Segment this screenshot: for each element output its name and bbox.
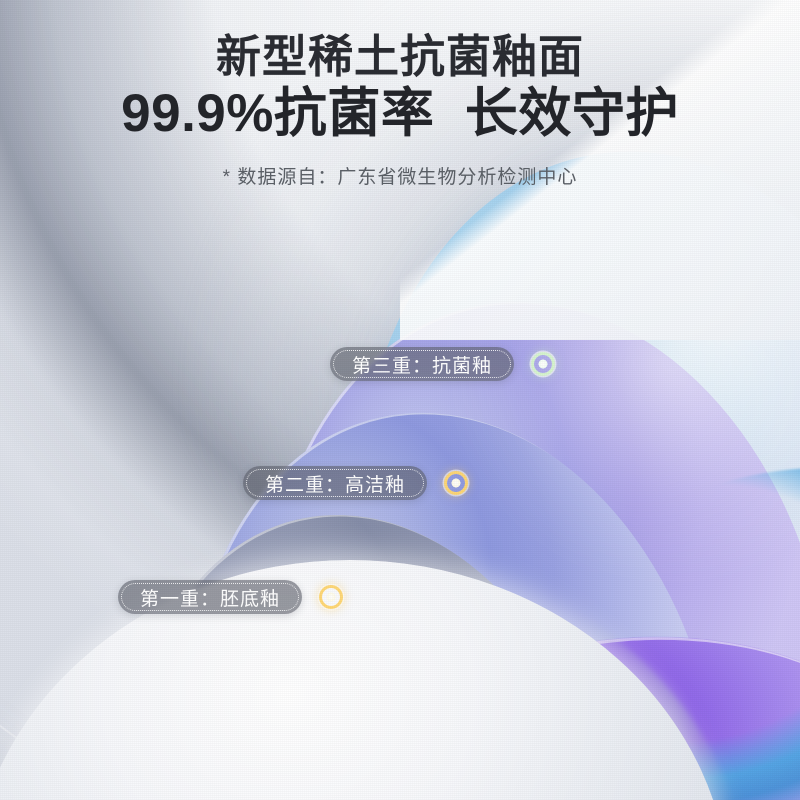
glow-dot-icon: [447, 474, 465, 492]
headline-secondary: 99.9%抗菌率 长效守护: [0, 83, 800, 146]
callout-label-layer-1: 第一重：胚底釉: [118, 580, 302, 614]
callout-layer-1: 第一重：胚底釉: [118, 580, 340, 614]
data-source-note: * 数据源自：广东省微生物分析检测中心: [0, 146, 800, 189]
glow-dot-icon: [322, 588, 340, 606]
headline-block: 新型稀土抗菌釉面 99.9%抗菌率 长效守护 * 数据源自：广东省微生物分析检测…: [0, 0, 800, 189]
glow-dot-icon: [534, 355, 552, 373]
callout-layer-2: 第二重：高洁釉: [243, 466, 465, 500]
product-banner: 新型稀土抗菌釉面 99.9%抗菌率 长效守护 * 数据源自：广东省微生物分析检测…: [0, 0, 800, 800]
callout-label-layer-2: 第二重：高洁釉: [243, 466, 427, 500]
callout-label-layer-3: 第三重：抗菌釉: [330, 347, 514, 381]
callout-layer-3: 第三重：抗菌釉: [330, 347, 552, 381]
headline-primary: 新型稀土抗菌釉面: [0, 0, 800, 83]
